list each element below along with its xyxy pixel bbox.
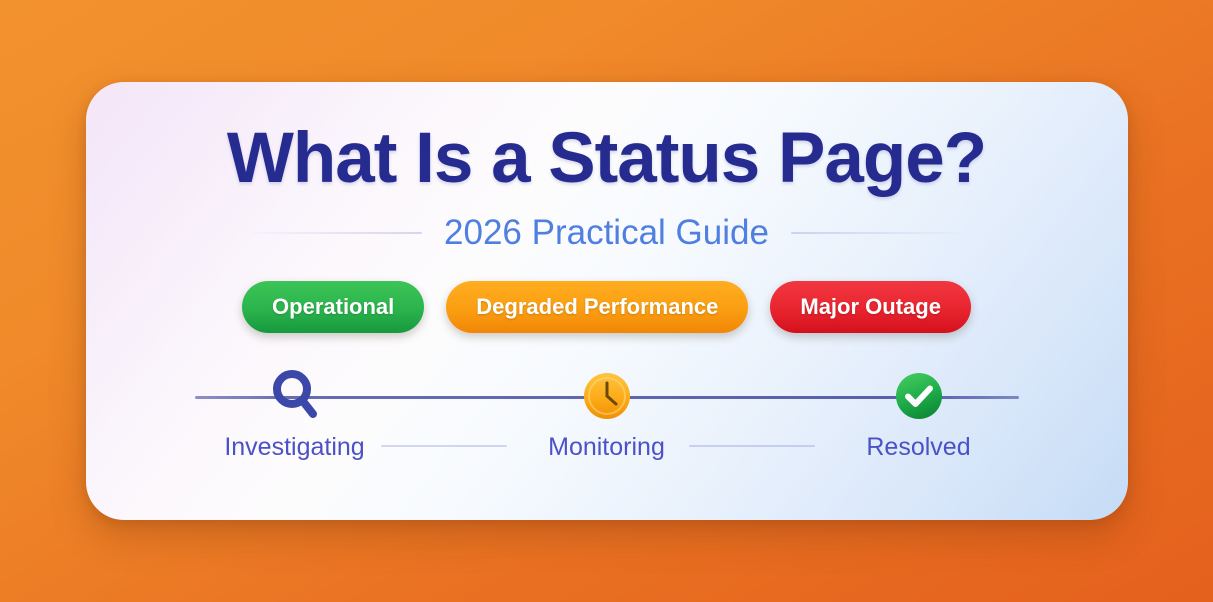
timeline-step-label-investigating: Investigating [224, 433, 364, 462]
clock-icon [576, 365, 638, 427]
timeline-label-connector-1 [381, 445, 507, 447]
badge-operational[interactable]: Operational [242, 281, 424, 333]
timeline-step-investigating[interactable]: Investigating [195, 365, 395, 462]
status-page-card: What Is a Status Page? 2026 Practical Gu… [86, 82, 1128, 520]
badge-degraded[interactable]: Degraded Performance [446, 281, 748, 333]
magnifier-icon [264, 365, 326, 427]
timeline-label-connector-2 [689, 445, 815, 447]
incident-timeline: Investigating [195, 365, 1019, 469]
check-circle-icon [888, 365, 950, 427]
status-badge-group: Operational Degraded Performance Major O… [242, 281, 971, 333]
subtitle-row: 2026 Practical Guide [86, 213, 1128, 253]
badge-outage[interactable]: Major Outage [770, 281, 971, 333]
subtitle-rule-left [252, 232, 422, 234]
page-title: What Is a Status Page? [227, 118, 986, 199]
timeline-step-label-resolved: Resolved [866, 433, 970, 462]
timeline-step-monitoring[interactable]: Monitoring [507, 365, 707, 462]
timeline-step-label-monitoring: Monitoring [548, 433, 665, 462]
subtitle-rule-right [791, 232, 961, 234]
page-subtitle: 2026 Practical Guide [444, 213, 769, 253]
timeline-steps: Investigating [195, 365, 1019, 469]
timeline-step-resolved[interactable]: Resolved [819, 365, 1019, 462]
